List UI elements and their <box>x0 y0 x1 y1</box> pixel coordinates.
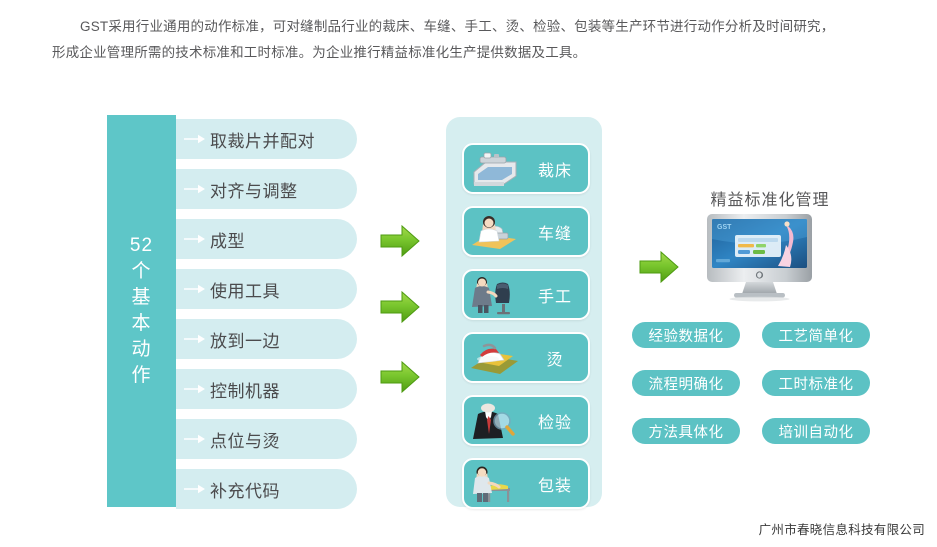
intro-paragraph: GST采用行业通用的动作标准，可对缝制品行业的裁床、车缝、手工、烫、检验、包装等… <box>52 14 892 66</box>
bar-char-0: 52 <box>130 233 153 259</box>
slide-canvas: GST采用行业通用的动作标准，可对缝制品行业的裁床、车缝、手工、烫、检验、包装等… <box>0 0 937 547</box>
list-item[interactable]: 控制机器 <box>176 369 357 409</box>
list-item[interactable]: 裁床 <box>462 143 590 194</box>
sewing-machine-icon <box>464 210 526 253</box>
status-badge[interactable]: 工时标准化 <box>762 370 870 396</box>
step-label: 放到一边 <box>210 327 280 352</box>
production-process-panel: 裁床 车缝 <box>446 117 602 507</box>
list-item[interactable]: 取裁片并配对 <box>176 119 357 159</box>
arrow-right-icon <box>180 432 210 446</box>
step-label: 控制机器 <box>210 377 280 402</box>
bar-char-4: 动 <box>131 337 151 363</box>
green-arrow-right-icon <box>379 290 421 324</box>
inspection-magnifier-icon <box>464 399 526 442</box>
packaging-icon <box>464 462 526 505</box>
svg-text:GST: GST <box>717 224 732 231</box>
arrow-right-icon <box>180 282 210 296</box>
arrow-right-icon <box>180 182 210 196</box>
status-badge[interactable]: 经验数据化 <box>632 322 740 348</box>
step-label: 点位与烫 <box>210 427 280 452</box>
process-label: 检验 <box>526 409 588 433</box>
handwork-mannequin-icon <box>464 273 526 316</box>
arrow-right-icon <box>180 382 210 396</box>
list-item[interactable]: 对齐与调整 <box>176 169 357 209</box>
process-label: 手工 <box>526 283 588 307</box>
list-item[interactable]: 成型 <box>176 219 357 259</box>
list-item[interactable]: 检验 <box>462 395 590 446</box>
list-item[interactable]: 手工 <box>462 269 590 320</box>
cutting-table-icon <box>464 147 526 190</box>
list-item[interactable]: 点位与烫 <box>176 419 357 459</box>
list-item[interactable]: 烫 <box>462 332 590 383</box>
list-item[interactable]: 使用工具 <box>176 269 357 309</box>
green-arrow-right-icon <box>379 224 421 258</box>
intro-line-2: 形成企业管理所需的技术标准和工时标准。为企业推行精益标准化生产提供数据及工具。 <box>52 40 892 66</box>
list-item[interactable]: 补充代码 <box>176 469 357 509</box>
process-label: 车缝 <box>526 220 588 244</box>
page-title: 精益标准化管理 <box>660 186 880 210</box>
process-label: 裁床 <box>526 157 588 181</box>
step-label: 取裁片并配对 <box>210 127 315 152</box>
basic-motions-label: 52 个 基 本 动 作 <box>107 115 176 507</box>
green-arrow-right-icon <box>638 250 680 284</box>
bar-char-3: 本 <box>131 311 151 337</box>
step-label: 对齐与调整 <box>210 177 298 202</box>
process-label: 烫 <box>526 346 588 370</box>
arrow-right-icon <box>180 232 210 246</box>
status-badge[interactable]: 方法具体化 <box>632 418 740 444</box>
list-item[interactable]: 车缝 <box>462 206 590 257</box>
imac-monitor-icon: GST <box>702 212 817 304</box>
arrow-right-icon <box>180 132 210 146</box>
status-badge[interactable]: 培训自动化 <box>762 418 870 444</box>
step-label: 使用工具 <box>210 277 280 302</box>
step-label: 补充代码 <box>210 477 280 502</box>
step-label: 成型 <box>210 227 245 252</box>
arrow-right-icon <box>180 332 210 346</box>
status-badge[interactable]: 工艺简单化 <box>762 322 870 348</box>
intro-line-1: GST采用行业通用的动作标准，可对缝制品行业的裁床、车缝、手工、烫、检验、包装等… <box>52 14 892 40</box>
arrow-right-icon <box>180 482 210 496</box>
status-badge[interactable]: 流程明确化 <box>632 370 740 396</box>
process-label: 包装 <box>526 472 588 496</box>
ironing-icon <box>464 336 526 379</box>
basic-motion-step-list: 取裁片并配对 对齐与调整 成型 使用工具 <box>176 115 357 507</box>
list-item[interactable]: 包装 <box>462 458 590 509</box>
bar-char-1: 个 <box>131 259 151 285</box>
basic-motions-column: 52 个 基 本 动 作 取裁片并配对 对齐与调整 <box>107 115 357 507</box>
company-footer: 广州市春晓信息科技有限公司 <box>759 519 925 538</box>
bar-char-5: 作 <box>131 363 151 389</box>
green-arrow-right-icon <box>379 360 421 394</box>
list-item[interactable]: 放到一边 <box>176 319 357 359</box>
bar-char-2: 基 <box>131 285 151 311</box>
